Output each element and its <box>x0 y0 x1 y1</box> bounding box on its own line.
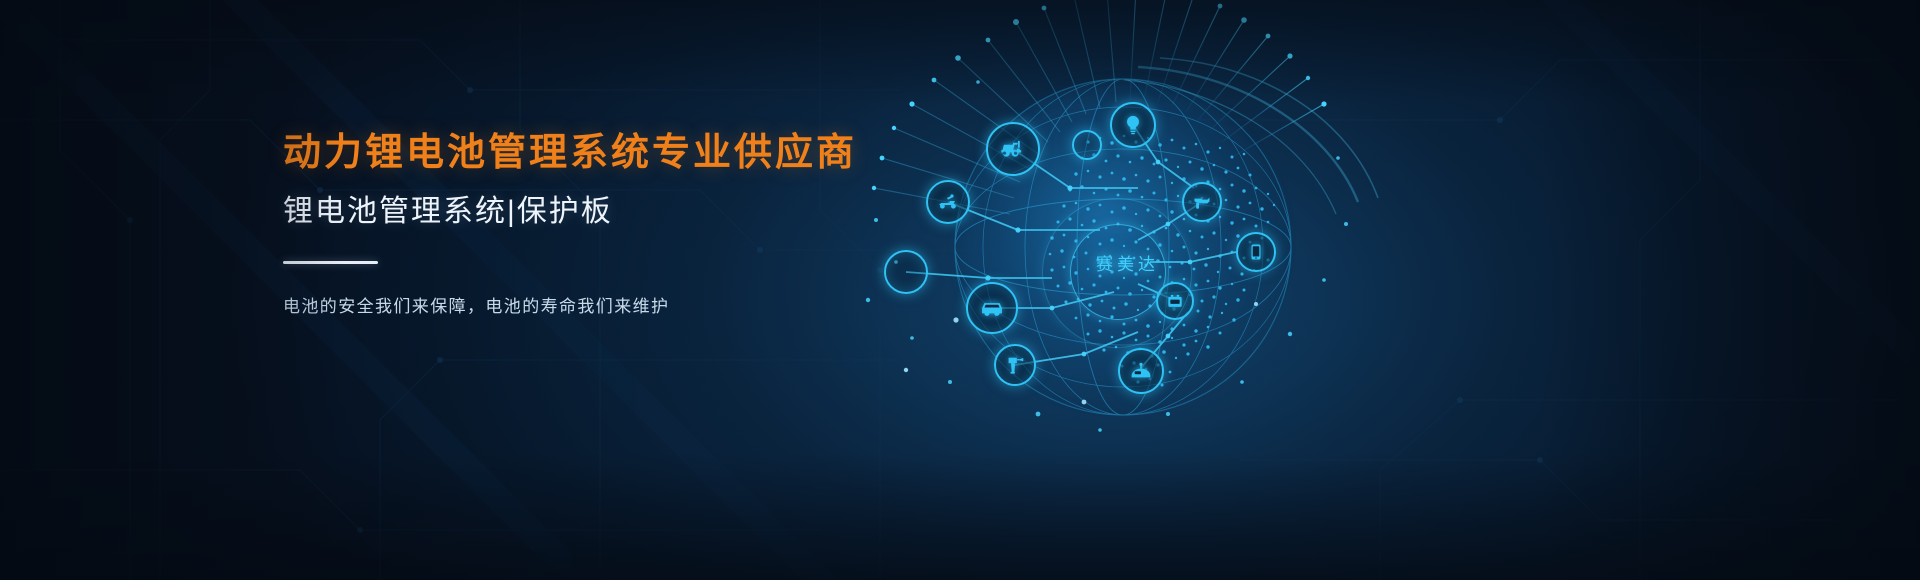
node-drill-icon[interactable] <box>994 344 1036 386</box>
scooter-icon <box>999 135 1027 163</box>
page-title: 动力锂电池管理系统专业供应商 <box>283 131 903 176</box>
phone-icon <box>1247 243 1265 261</box>
globe-graphic: 赛美达 <box>838 0 1398 522</box>
node-phone-icon[interactable] <box>1236 232 1276 272</box>
node-ebike-icon[interactable] <box>926 180 970 224</box>
page-subtitle: 锂电池管理系统|保护板 <box>283 194 903 230</box>
hero-banner: 赛美达 动力锂电池管理系统专业供应商 锂电池管理系统|保护板 电池的安全我们来保… <box>0 0 1920 580</box>
node-empty-small[interactable] <box>1072 130 1102 160</box>
node-powertool-icon[interactable] <box>1182 182 1222 222</box>
car-icon <box>978 294 1006 322</box>
page-tagline: 电池的安全我们来保障，电池的寿命我们来维护 <box>283 292 903 317</box>
title-divider <box>283 261 378 264</box>
lightbulb-icon <box>1122 114 1144 136</box>
ebike-icon <box>936 190 960 214</box>
globe-secondary-ring <box>1042 198 1192 348</box>
node-car-icon[interactable] <box>966 282 1018 334</box>
node-scooter-icon[interactable] <box>986 122 1040 176</box>
drill-icon <box>1004 354 1026 376</box>
robot-vacuum-icon <box>1129 359 1153 383</box>
node-robot-vacuum-icon[interactable] <box>1118 348 1164 394</box>
banner-copy: 动力锂电池管理系统专业供应商 锂电池管理系统|保护板 电池的安全我们来保障，电池… <box>283 131 903 317</box>
node-lightbulb-icon[interactable] <box>1110 102 1156 148</box>
powertool-icon <box>1192 192 1212 212</box>
